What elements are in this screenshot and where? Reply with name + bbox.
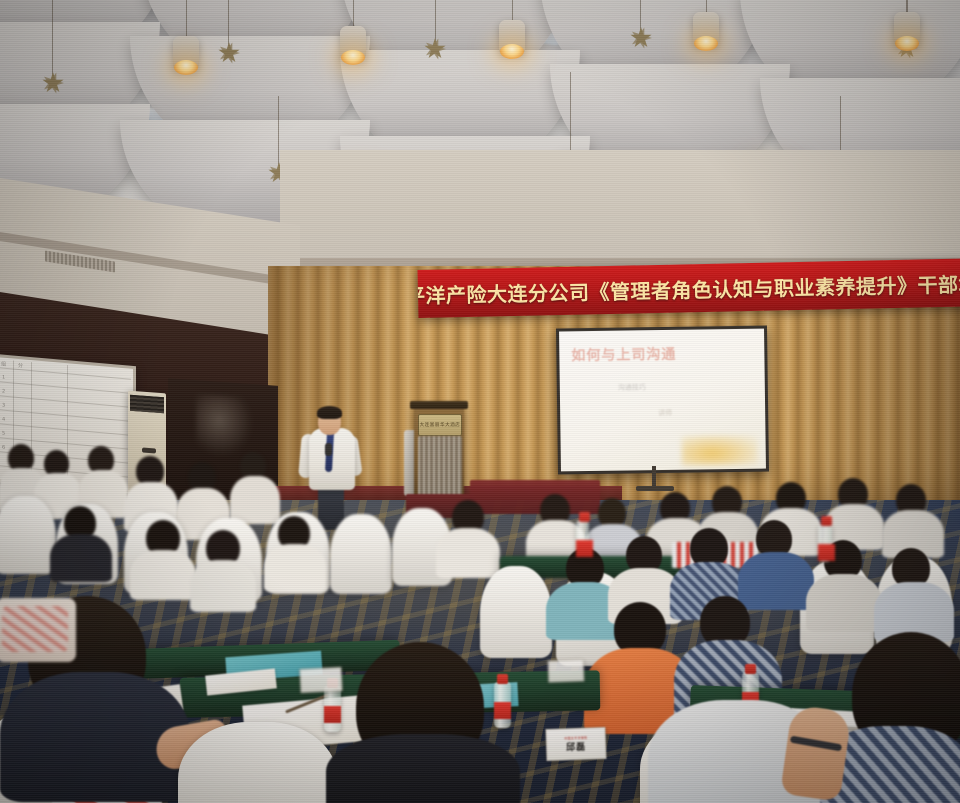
name-placard: 中国太平洋保险 邱磊 [545, 727, 606, 761]
slide-title: 如何与上司沟通 [571, 344, 676, 365]
water-bottle [576, 520, 589, 556]
chair-cover [480, 566, 552, 658]
lamp-cord [186, 0, 187, 38]
fabric-pattern [2, 606, 68, 652]
air-conditioner-grill [130, 395, 164, 413]
slide-subtitle: 沟通技巧 [618, 382, 646, 392]
star-ornament [42, 72, 64, 94]
screen-stand-pole [652, 466, 656, 488]
attendee-torso [806, 574, 882, 632]
whiteboard-mark: 3 [2, 402, 5, 408]
stage-side-table [470, 480, 600, 514]
attendee-torso [190, 560, 256, 612]
ornament-cord [228, 0, 229, 48]
whiteboard-mark: 分 [18, 362, 23, 369]
lamp-cord [353, 0, 354, 28]
screen-stand-foot [636, 486, 674, 491]
attendee-torso [130, 550, 196, 600]
placard-name: 邱磊 [566, 739, 586, 753]
star-ornament [424, 38, 446, 60]
name-placard [299, 667, 342, 693]
water-bottle [494, 682, 511, 728]
whiteboard-mark: 2 [2, 388, 5, 394]
whiteboard-mark: 1 [2, 374, 5, 380]
pendant-lamp [173, 36, 199, 70]
attendee-torso [326, 734, 520, 803]
chair-cover [0, 496, 56, 574]
lamp-cord [512, 0, 513, 22]
pendant-lamp [340, 26, 366, 60]
projection-screen-surface: 如何与上司沟通 沟通技巧 讲师 [559, 329, 766, 472]
projection-screen: 如何与上司沟通 沟通技巧 讲师 [556, 326, 769, 475]
star-ornament [218, 42, 240, 64]
attendee-torso [50, 534, 112, 582]
slide-graphic-blob [682, 435, 758, 466]
podium-top [410, 401, 468, 409]
water-bottle [324, 686, 341, 732]
whiteboard-mark: 6 [2, 444, 5, 450]
ornament-cord [278, 96, 279, 168]
whiteboard-mark: 4 [2, 416, 5, 422]
pendant-lamp [894, 12, 920, 46]
slide-subtitle-2: 讲师 [658, 408, 672, 418]
podium-nameplate: 大连富丽华大酒店 [418, 414, 462, 436]
photo-scene: 太平洋产险大连分公司《管理者角色认知与职业素养提升》干部培训 如何与上司沟通 沟… [0, 0, 960, 803]
banner-text: 太平洋产险大连分公司《管理者角色认知与职业素养提升》干部培训 [417, 267, 960, 309]
attendee-torso [264, 544, 326, 592]
podium-slats [418, 436, 462, 498]
attendee-torso [738, 552, 814, 610]
cabinet-reflection [196, 394, 254, 460]
pendant-lamp [693, 12, 719, 46]
whiteboard-mark: 组 [1, 360, 6, 367]
air-conditioner-panel [142, 448, 156, 454]
pendant-lamp [499, 20, 525, 54]
chair-cover [330, 514, 392, 594]
podium-nameplate-text: 大连富丽华大酒店 [420, 422, 461, 428]
water-bottle [818, 524, 832, 562]
star-ornament [630, 27, 652, 49]
ornament-cord [52, 0, 53, 78]
speaker-hair [317, 406, 342, 419]
whiteboard-mark: 5 [2, 430, 5, 436]
microphone [325, 443, 332, 456]
name-placard [548, 659, 585, 682]
